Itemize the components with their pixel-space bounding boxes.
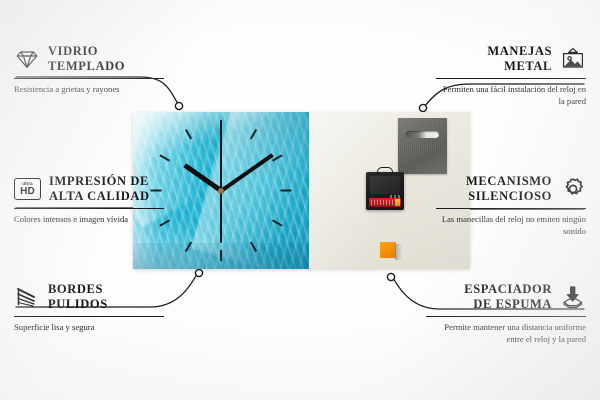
feature-title: MECANISMO SILENCIOSO [466, 174, 552, 205]
feature-title-line1: ESPACIADOR [464, 282, 552, 296]
hour-tick [220, 250, 222, 261]
feature-title-line2: SILENCIOSO [466, 189, 552, 204]
second-hand-tail [220, 191, 221, 243]
second-hand [220, 124, 221, 191]
feature-title: MANEJAS METAL [487, 44, 552, 75]
feature-title-line2: PULIDOS [48, 297, 108, 312]
hour-tick [185, 129, 192, 140]
polished-edges-icon [14, 284, 40, 310]
feature-divider [426, 316, 586, 317]
marker-hangers [419, 104, 426, 111]
feature-silent-mechanism: MECANISMO SILENCIOSO Las manecillas del … [436, 174, 586, 237]
feature-divider [14, 316, 164, 317]
aa-battery [369, 198, 401, 207]
hour-tick [250, 242, 257, 253]
hour-hand [183, 163, 223, 193]
feature-title-line1: VIDRIO [48, 44, 98, 58]
hour-tick [159, 154, 170, 161]
battery-positive-tip [395, 199, 400, 206]
feature-description: Permite mantener una distancia uniforme … [426, 321, 586, 346]
feature-description: Colores intensos e imagen vívida [14, 213, 164, 225]
feature-title: VIDRIO TEMPLADO [48, 44, 125, 75]
silent-quartz-mechanism [366, 172, 404, 210]
feature-title-line1: IMPRESIÓN DE [49, 174, 149, 188]
hour-tick [250, 129, 257, 140]
feature-divider [436, 78, 586, 79]
diamond-icon [14, 46, 40, 72]
feature-description: Superficie lisa y segura [14, 321, 164, 333]
gear-icon [560, 176, 586, 202]
foam-spacer-shadow [395, 244, 402, 260]
feature-title: BORDES PULIDOS [48, 282, 108, 313]
mechanism-plate [370, 176, 400, 194]
feature-description: Las manecillas del reloj no emiten ningú… [436, 213, 586, 238]
feature-title-line2: TEMPLADO [48, 59, 125, 74]
mechanism-lug [377, 167, 393, 175]
feature-title-line1: MANEJAS [487, 44, 552, 58]
hour-tick [272, 219, 283, 226]
marker-edges [195, 269, 202, 276]
foam-spacer [380, 242, 396, 258]
feature-title-line1: MECANISMO [466, 174, 552, 188]
feature-description: Permiten una fácil instalación del reloj… [436, 83, 586, 108]
feature-description: Resistencia a grietas y rayones [14, 83, 164, 95]
picture-hanger-icon [560, 46, 586, 72]
feature-divider [436, 208, 586, 209]
hour-tick [185, 242, 192, 253]
feature-divider [14, 208, 164, 209]
feature-title-line2: DE ESPUMA [464, 297, 552, 312]
feature-divider [14, 78, 164, 79]
center-cap [218, 188, 224, 194]
feature-title: IMPRESIÓN DE ALTA CALIDAD [49, 174, 150, 205]
hanger-slot [406, 131, 439, 138]
feature-tempered-glass: VIDRIO TEMPLADO Resistencia a grietas y … [14, 44, 164, 95]
feature-metal-hangers: MANEJAS METAL Permiten una fácil instala… [436, 44, 586, 107]
marker-glass [175, 102, 182, 109]
download-into-tray-icon [560, 284, 586, 310]
ultra-hd-large-text: HD [20, 187, 35, 197]
feature-title: ESPACIADOR DE ESPUMA [464, 282, 552, 313]
marker-foam [387, 273, 394, 280]
ultra-hd-badge-icon: ultra HD [14, 178, 41, 200]
hour-tick [281, 190, 292, 192]
minute-hand [220, 153, 274, 192]
battery-label-stripes [371, 200, 393, 205]
feature-title-line1: BORDES [48, 282, 103, 296]
feature-high-quality-print: ultra HD IMPRESIÓN DE ALTA CALIDAD Color… [14, 174, 164, 225]
feature-title-line2: METAL [487, 59, 552, 74]
feature-foam-spacer: ESPACIADOR DE ESPUMA Permite mantener un… [426, 282, 586, 345]
feature-title-line2: ALTA CALIDAD [49, 189, 150, 204]
product-infographic: VIDRIO TEMPLADO Resistencia a grietas y … [0, 0, 600, 400]
feature-polished-edges: BORDES PULIDOS Superficie lisa y segura [14, 282, 164, 333]
metal-hanger-plate [398, 118, 447, 174]
